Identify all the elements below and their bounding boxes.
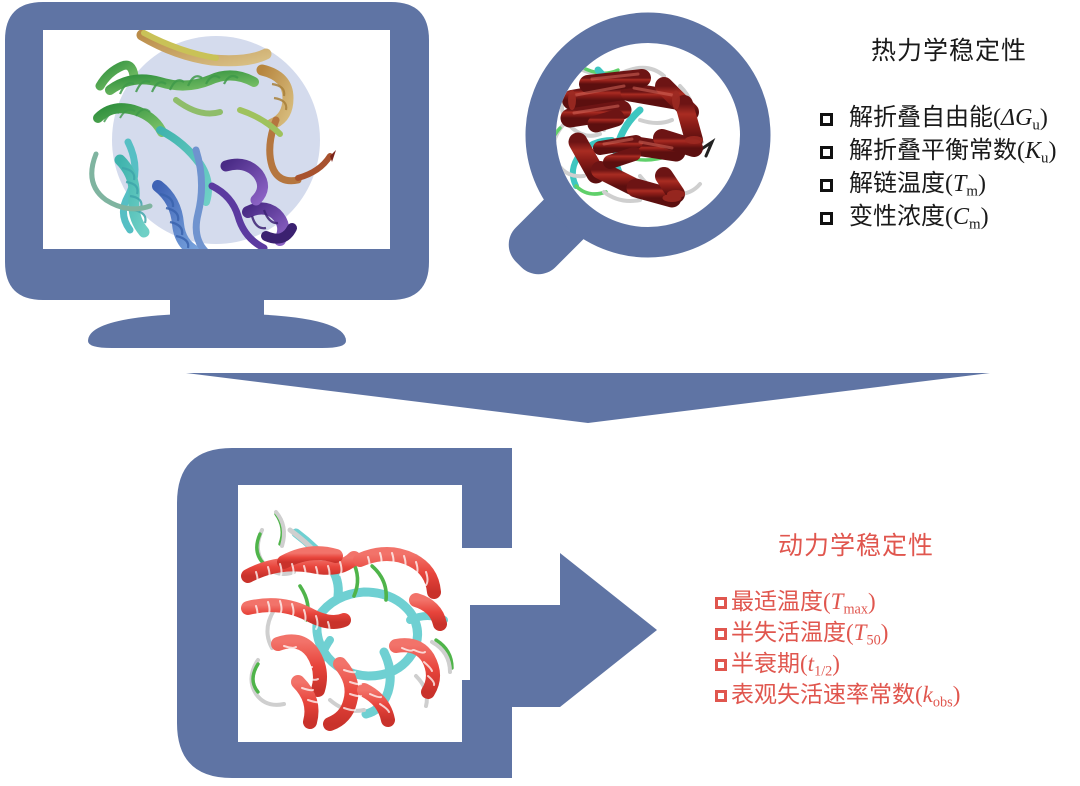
list-item[interactable]: 半失活温度(T50) bbox=[715, 619, 960, 650]
kinetic-item-2-subscript: 1/2 bbox=[814, 663, 832, 679]
list-item[interactable]: 最适温度(Tmax) bbox=[715, 588, 960, 619]
kinetic-item-1-label: 半失活温度 bbox=[731, 620, 846, 645]
thermo-item-1-text: 解折叠平衡常数(Ku) bbox=[849, 137, 1056, 172]
thermo-item-3-text: 变性浓度(Cm) bbox=[849, 203, 989, 238]
list-item[interactable]: 半衰期(t1/2) bbox=[715, 650, 960, 681]
square-bullet-icon bbox=[715, 690, 727, 702]
square-bullet-icon bbox=[820, 146, 833, 159]
kinetic-parameter-list: 最适温度(Tmax) 半失活温度(T50) 半衰期(t1/2) 表观失活速率常数… bbox=[715, 588, 960, 712]
kinetic-item-3-open: ( bbox=[915, 682, 923, 707]
thermo-item-0-text: 解折叠自由能(ΔGu) bbox=[849, 104, 1048, 139]
kinetic-item-0-close: ) bbox=[868, 589, 876, 614]
kinetic-item-1-text: 半失活温度(T50) bbox=[731, 619, 888, 654]
square-bullet-icon bbox=[820, 179, 833, 192]
square-bullet-icon bbox=[715, 628, 727, 640]
square-bullet-icon bbox=[715, 659, 727, 671]
arrow-right-icon bbox=[470, 553, 657, 707]
figure-canvas: 热力学稳定性 解折叠自由能(ΔGu) 解折叠平衡常数(Ku) 解链温度(Tm) … bbox=[0, 0, 1080, 786]
kinetic-item-1-symbol: T bbox=[854, 620, 867, 645]
thermo-item-0-label: 解折叠自由能 bbox=[849, 105, 993, 131]
kinetic-item-1-subscript: 50 bbox=[866, 632, 880, 648]
kinetic-item-2-text: 半衰期(t1/2) bbox=[731, 650, 840, 685]
list-item[interactable]: 解链温度(Tm) bbox=[820, 170, 1056, 203]
thermo-item-2-text: 解链温度(Tm) bbox=[849, 170, 986, 205]
square-bullet-icon bbox=[820, 212, 833, 225]
export-bracket-icon bbox=[177, 448, 512, 778]
thermo-item-1-open: ( bbox=[1017, 138, 1025, 164]
list-item[interactable]: 变性浓度(Cm) bbox=[820, 203, 1056, 236]
thermo-item-3-symbol: C bbox=[953, 204, 969, 230]
thermo-item-0-symbol: ΔG bbox=[1001, 105, 1032, 131]
kinetic-item-0-label: 最适温度 bbox=[731, 589, 823, 614]
kinetic-item-2-close: ) bbox=[832, 651, 840, 676]
thermo-item-3-label: 变性浓度 bbox=[849, 204, 945, 230]
kinetic-item-0-text: 最适温度(Tmax) bbox=[731, 588, 876, 623]
square-bullet-icon bbox=[820, 113, 833, 126]
square-bullet-icon bbox=[715, 597, 727, 609]
thermo-item-1-close: ) bbox=[1048, 138, 1056, 164]
thermo-item-3-subscript: m bbox=[969, 216, 981, 232]
thermo-item-0-close: ) bbox=[1040, 105, 1048, 131]
kinetic-item-3-label: 表观失活速率常数 bbox=[731, 682, 915, 707]
thermo-heading: 热力学稳定性 bbox=[871, 38, 1027, 66]
list-item[interactable]: 表观失活速率常数(kobs) bbox=[715, 681, 960, 712]
kinetic-item-3-text: 表观失活速率常数(kobs) bbox=[731, 681, 960, 716]
thermo-item-2-subscript: m bbox=[966, 183, 978, 199]
thermo-item-1-symbol: K bbox=[1025, 138, 1041, 164]
thermo-item-2-close: ) bbox=[978, 171, 986, 197]
kinetic-item-0-subscript: max bbox=[843, 601, 868, 617]
kinetic-item-3-symbol: k bbox=[923, 682, 933, 707]
thermo-item-1-label: 解折叠平衡常数 bbox=[849, 138, 1017, 164]
kinetic-heading: 动力学稳定性 bbox=[778, 533, 934, 561]
kinetic-item-2-open: ( bbox=[800, 651, 808, 676]
thermo-item-3-close: ) bbox=[981, 204, 989, 230]
thermo-item-0-subscript: u bbox=[1032, 117, 1039, 133]
list-item[interactable]: 解折叠平衡常数(Ku) bbox=[820, 137, 1056, 170]
chevron-down-icon bbox=[186, 373, 990, 423]
kinetic-item-0-open: ( bbox=[823, 589, 831, 614]
kinetic-item-2-label: 半衰期 bbox=[731, 651, 800, 676]
thermo-item-3-open: ( bbox=[945, 204, 953, 230]
thermo-parameter-list: 解折叠自由能(ΔGu) 解折叠平衡常数(Ku) 解链温度(Tm) 变性浓度(Cm… bbox=[820, 104, 1056, 236]
thermo-item-0-open: ( bbox=[993, 105, 1001, 131]
thermo-item-2-symbol: T bbox=[953, 171, 966, 197]
kinetic-item-1-close: ) bbox=[881, 620, 889, 645]
kinetic-item-3-subscript: obs bbox=[933, 694, 953, 710]
thermo-item-2-label: 解链温度 bbox=[849, 171, 945, 197]
kinetic-item-0-symbol: T bbox=[831, 589, 844, 614]
kinetic-item-1-open: ( bbox=[846, 620, 854, 645]
kinetic-item-3-close: ) bbox=[953, 682, 961, 707]
list-item[interactable]: 解折叠自由能(ΔGu) bbox=[820, 104, 1056, 137]
thermo-item-2-open: ( bbox=[945, 171, 953, 197]
